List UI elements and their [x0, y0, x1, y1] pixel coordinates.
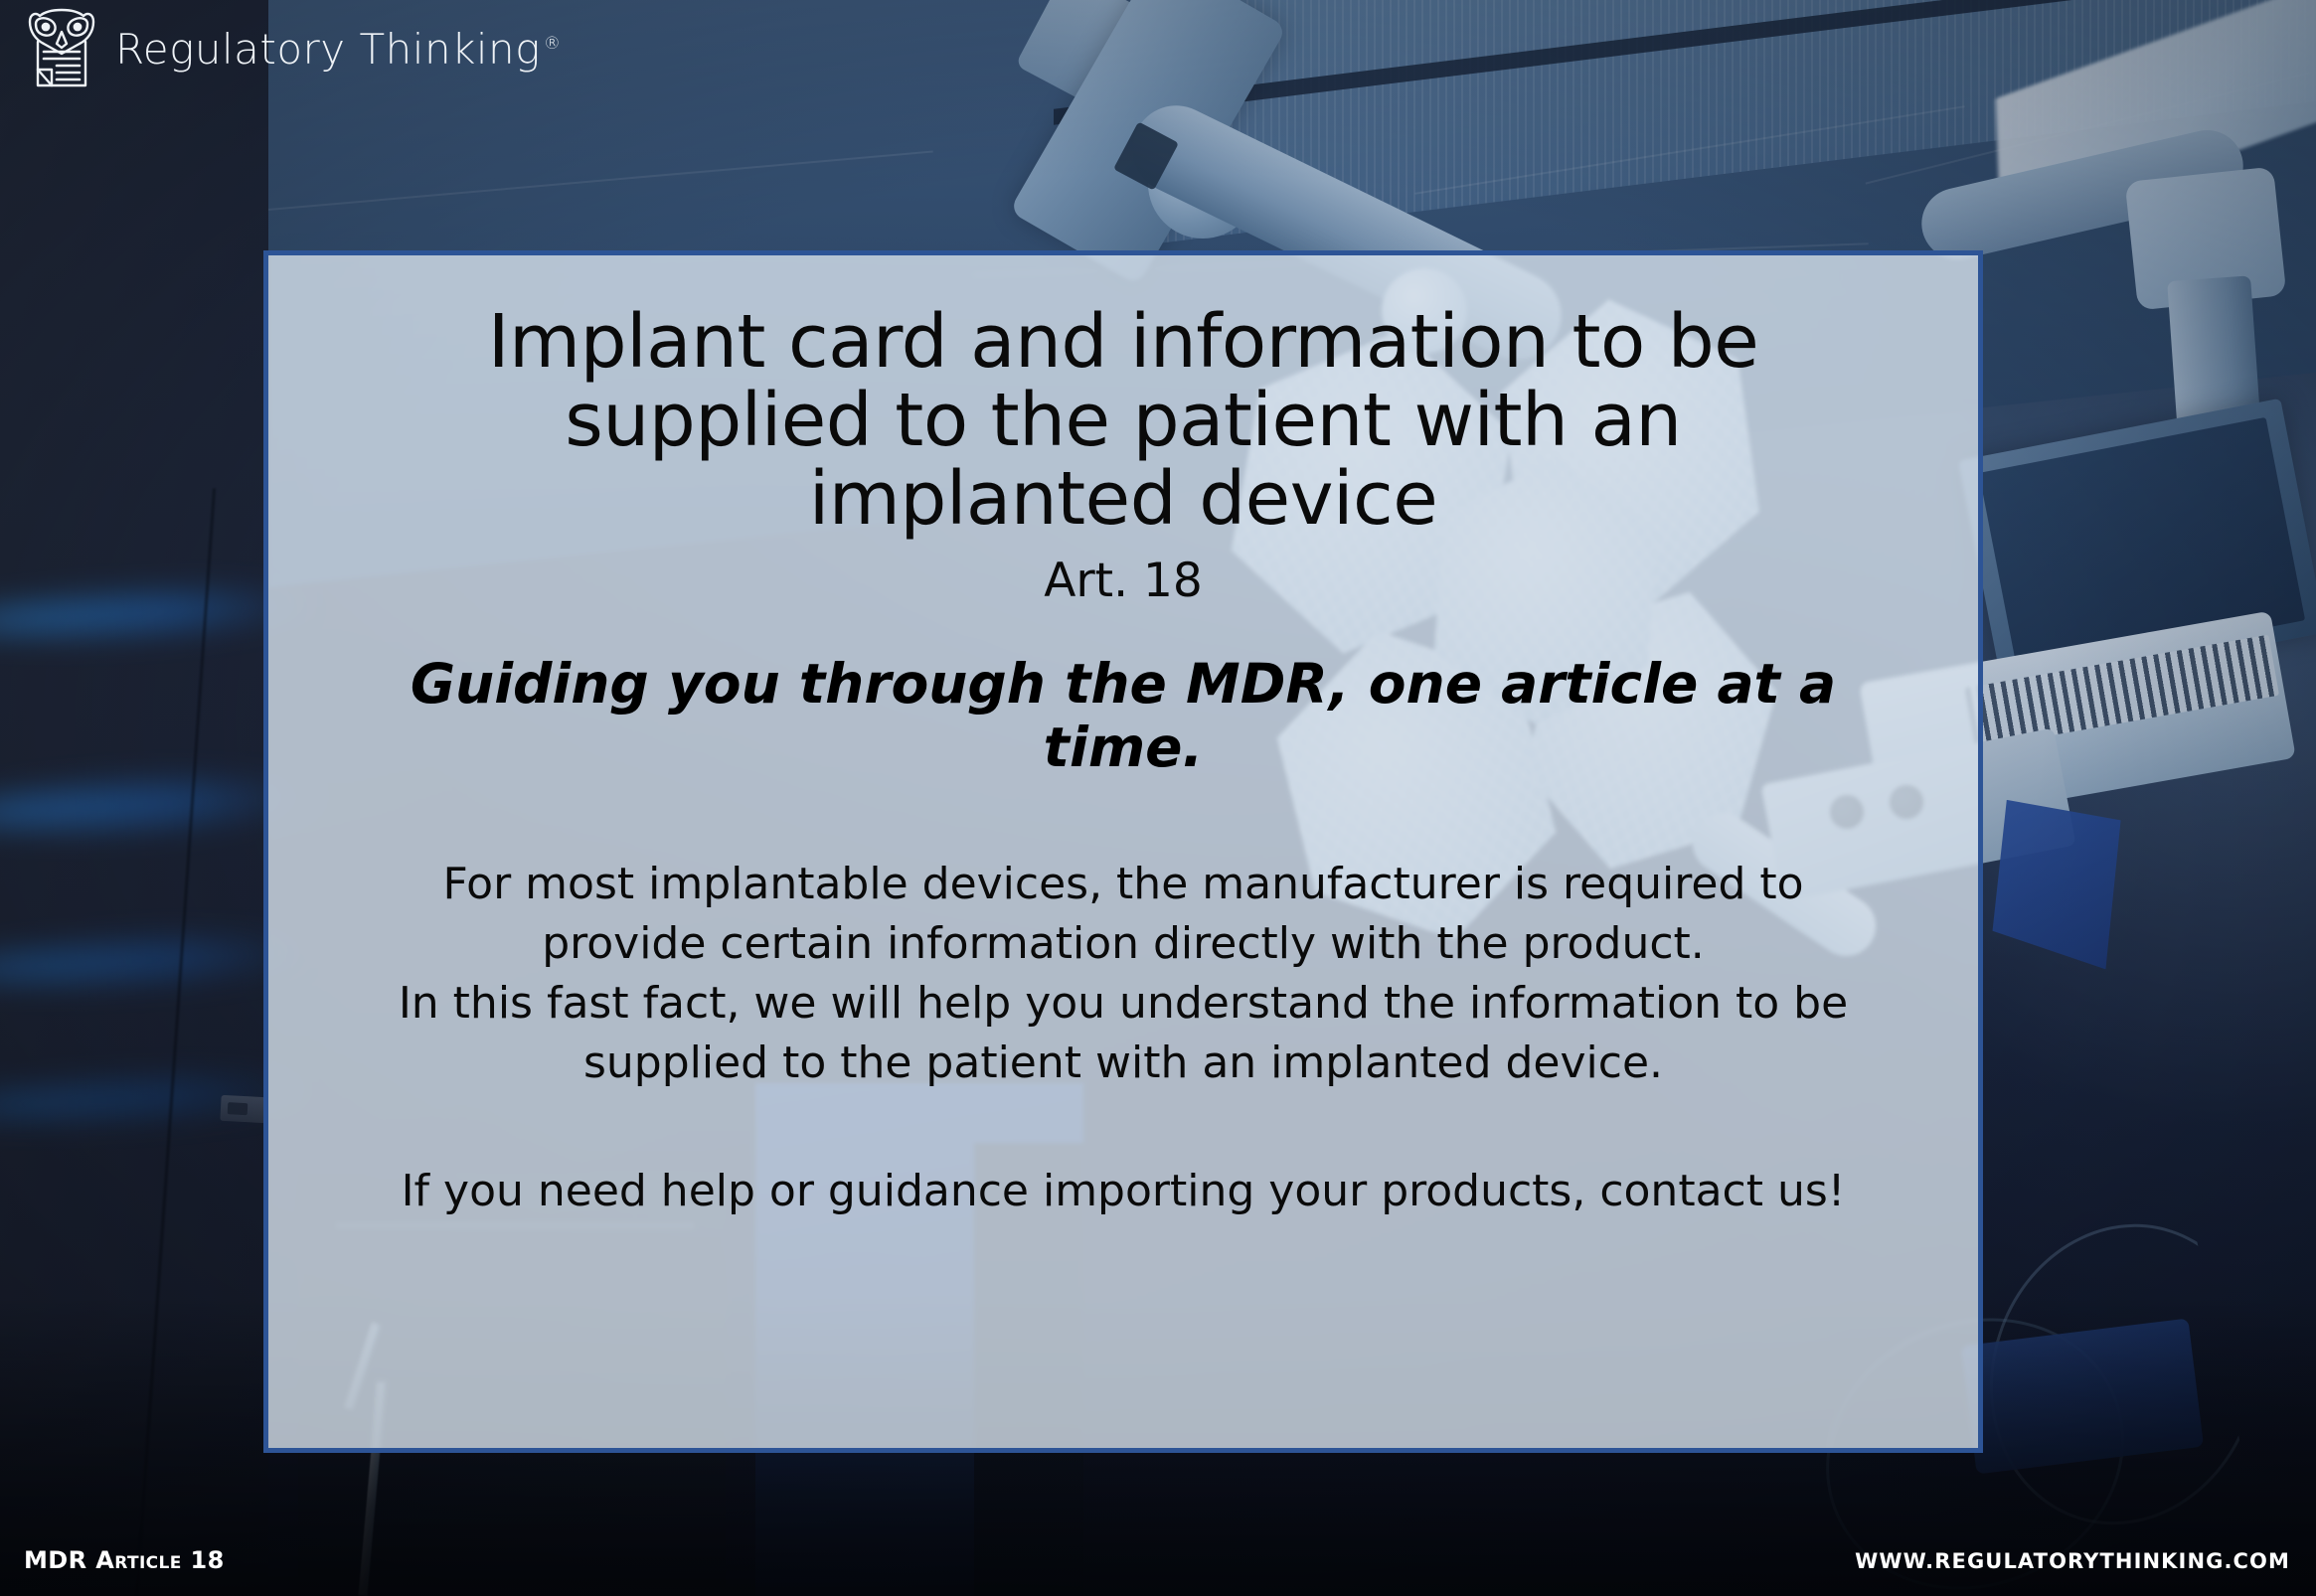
body-paragraph-2: In this fast fact, we will help you unde…: [388, 974, 1859, 1094]
call-to-action-text: If you need help or guidance importing y…: [388, 1166, 1859, 1216]
body-text-block: For most implantable devices, the manufa…: [388, 855, 1859, 1094]
footer-article-label: MDR Article 18: [24, 1546, 225, 1574]
footer-website-url[interactable]: WWW.REGULATORYTHINKING.COM: [1855, 1549, 2290, 1573]
article-reference: Art. 18: [388, 554, 1859, 608]
content-panel-inner: Implant card and information to be suppl…: [268, 255, 1978, 1216]
brand-name-wrapper: Regulatory Thinking®: [115, 25, 561, 74]
body-paragraph-1: For most implantable devices, the manufa…: [388, 855, 1859, 975]
slide-canvas: Implant card and information to be suppl…: [0, 0, 2316, 1596]
content-panel: Implant card and information to be suppl…: [263, 250, 1983, 1453]
registered-trademark-symbol: ®: [544, 34, 562, 54]
brand-logo[interactable]: Regulatory Thinking®: [24, 8, 561, 89]
owl-document-icon: [24, 8, 99, 89]
tagline: Guiding you through the MDR, one article…: [388, 652, 1859, 779]
brand-name: Regulatory Thinking: [115, 25, 541, 74]
page-title: Implant card and information to be suppl…: [388, 303, 1859, 540]
